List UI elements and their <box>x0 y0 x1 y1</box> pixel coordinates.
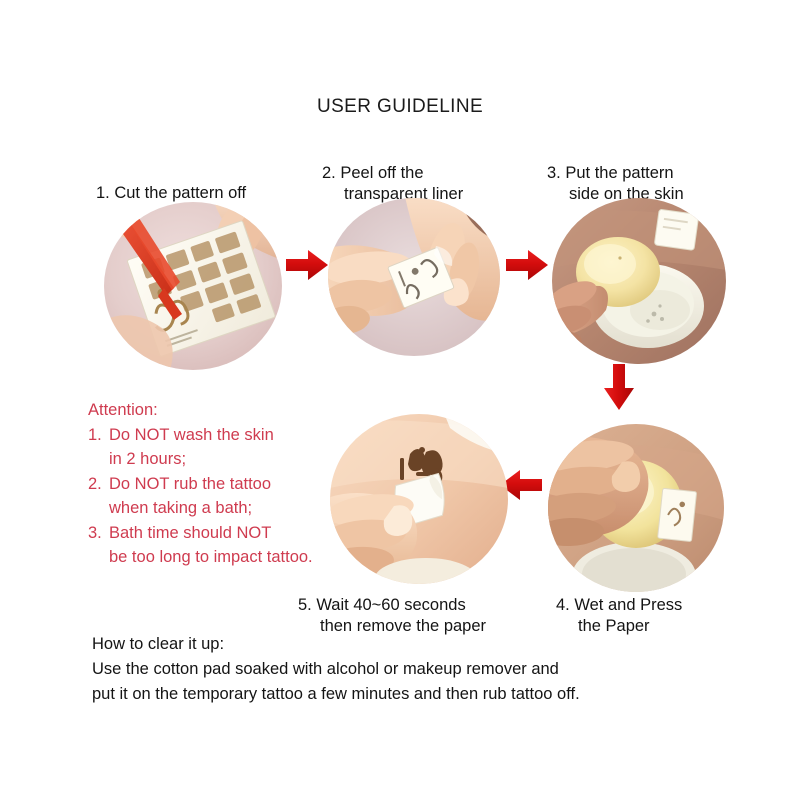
attention-item-1-line2: in 2 hours; <box>109 450 186 468</box>
photo-wet-and-press-paper-with-sponge <box>548 424 724 592</box>
arrow-right-step2-to-step3 <box>506 248 548 282</box>
cleanup-line1: Use the cotton pad soaked with alcohol o… <box>92 657 752 682</box>
attention-item-3-number: 3. <box>88 521 102 546</box>
attention-item-3: 3. Bath time should NOT be too long to i… <box>88 521 328 570</box>
attention-item-2: 2. Do NOT rub the tattoo when taking a b… <box>88 472 328 521</box>
photo-remove-paper-revealing-tattoo <box>330 414 508 584</box>
user-guideline-infographic: USER GUIDELINE 1. Cut the pattern off <box>0 0 800 800</box>
attention-item-3-line2: be too long to impact tattoo. <box>109 548 313 566</box>
photo-cut-pattern-with-scissors <box>104 202 282 370</box>
photo-place-pattern-on-skin <box>552 198 726 364</box>
step-3-caption-line1: 3. Put the pattern <box>547 164 674 182</box>
attention-item-1: 1. Do NOT wash the skin in 2 hours; <box>88 423 328 472</box>
attention-item-1-line1: Do NOT wash the skin <box>109 426 274 444</box>
cleanup-instructions: How to clear it up: Use the cotton pad s… <box>92 632 752 707</box>
attention-item-2-line1: Do NOT rub the tattoo <box>109 475 271 493</box>
cleanup-heading: How to clear it up: <box>92 632 752 657</box>
step-4-caption-line1: 4. Wet and Press <box>556 596 682 614</box>
attention-item-1-number: 1. <box>88 423 102 448</box>
photo-peel-transparent-liner <box>328 198 500 356</box>
step-1-caption: 1. Cut the pattern off <box>96 162 306 204</box>
cleanup-line2: put it on the temporary tattoo a few min… <box>92 682 752 707</box>
step-1-caption-line1: 1. Cut the pattern off <box>96 184 246 202</box>
arrow-down-step3-to-step4 <box>602 364 636 410</box>
attention-list: 1. Do NOT wash the skin in 2 hours; 2. D… <box>88 423 328 570</box>
arrow-right-step1-to-step2 <box>286 248 328 282</box>
step-2-caption-line1: 2. Peel off the <box>322 164 424 182</box>
attention-item-2-line2: when taking a bath; <box>109 499 252 517</box>
step-5-caption-line1: 5. Wait 40~60 seconds <box>298 596 466 614</box>
attention-item-2-number: 2. <box>88 472 102 497</box>
page-title: USER GUIDELINE <box>0 96 800 118</box>
attention-heading: Attention: <box>88 398 328 423</box>
attention-item-3-line1: Bath time should NOT <box>109 524 271 542</box>
attention-block: Attention: 1. Do NOT wash the skin in 2 … <box>88 398 328 570</box>
